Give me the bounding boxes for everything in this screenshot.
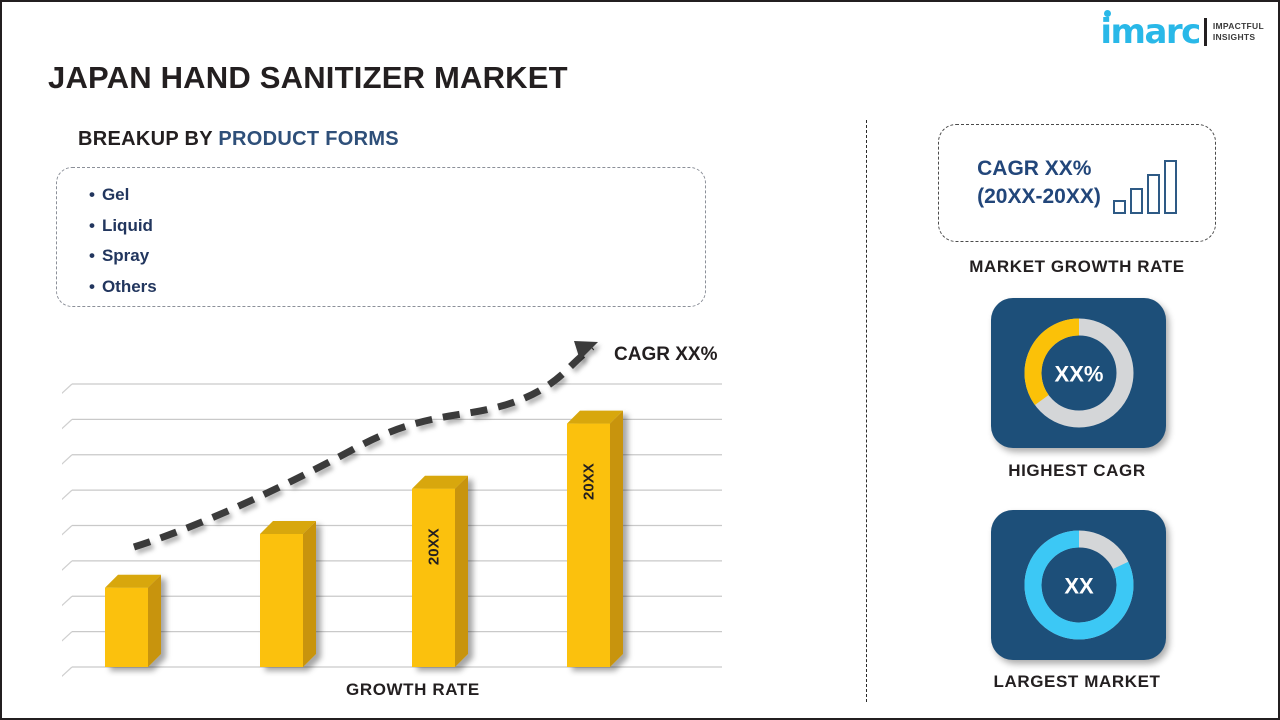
gridline-depth bbox=[62, 490, 72, 512]
largest-market-label: LARGEST MARKET bbox=[917, 672, 1237, 692]
list-item: •Liquid bbox=[77, 211, 705, 242]
highest-cagr-donut: XX% bbox=[1018, 312, 1140, 434]
bar-side-face bbox=[455, 476, 468, 667]
subtitle-prefix: BREAKUP BY bbox=[78, 128, 213, 150]
donut-value: XX bbox=[1064, 574, 1094, 599]
chart-x-axis-label: GROWTH RATE bbox=[346, 680, 480, 700]
list-item-label: Gel bbox=[102, 185, 129, 204]
chart-bars: 20XX20XX bbox=[105, 411, 623, 667]
highest-cagr-card: XX% bbox=[991, 298, 1166, 448]
gridline-depth bbox=[62, 561, 72, 583]
infographic-slide: imarc IMPACTFUL INSIGHTS JAPAN HAND SANI… bbox=[0, 0, 1280, 720]
highest-cagr-label: HIGHEST CAGR bbox=[917, 461, 1237, 481]
bar-label: 20XX bbox=[581, 463, 598, 500]
market-growth-line2: (20XX-20XX) bbox=[977, 183, 1101, 211]
gridline-depth bbox=[62, 667, 72, 677]
gridline-depth bbox=[62, 596, 72, 618]
largest-market-donut: XX bbox=[1018, 524, 1140, 646]
chart-bar bbox=[260, 521, 316, 667]
market-growth-rate-label: MARKET GROWTH RATE bbox=[917, 257, 1237, 277]
bar-front-face bbox=[260, 534, 303, 667]
bullet-icon: • bbox=[89, 185, 95, 204]
bar-chart-icon-bar bbox=[1164, 160, 1177, 214]
subtitle-highlight: PRODUCT FORMS bbox=[218, 128, 399, 150]
market-growth-text: CAGR XX% (20XX-20XX) bbox=[977, 155, 1101, 211]
chart-canvas: 20XX20XX bbox=[62, 332, 762, 677]
gridline-depth bbox=[62, 632, 72, 654]
list-item-label: Liquid bbox=[102, 216, 153, 235]
bar-chart-icon bbox=[1113, 152, 1177, 214]
imarc-logo: imarc IMPACTFUL INSIGHTS bbox=[1100, 12, 1264, 52]
list-item-label: Others bbox=[102, 277, 157, 296]
bar-chart-icon-bar bbox=[1130, 188, 1143, 214]
logo-tagline-line2: INSIGHTS bbox=[1213, 32, 1264, 43]
list-item-label: Spray bbox=[102, 246, 149, 265]
chart-bar bbox=[105, 575, 161, 667]
chart-cagr-label: CAGR XX% bbox=[614, 344, 717, 366]
logo-wordmark-text: imarc bbox=[1100, 12, 1199, 52]
product-forms-list: •Gel •Liquid •Spray •Others bbox=[56, 167, 706, 307]
growth-rate-chart: 20XX20XX CAGR XX% GROWTH RATE bbox=[62, 332, 762, 720]
page-subtitle: BREAKUP BY PRODUCT FORMS bbox=[78, 128, 399, 151]
bullet-icon: • bbox=[89, 277, 95, 296]
bar-front-face bbox=[567, 424, 610, 667]
bullet-icon: • bbox=[89, 216, 95, 235]
bar-front-face bbox=[105, 588, 148, 667]
logo-tagline-line1: IMPACTFUL bbox=[1213, 21, 1264, 32]
donut-value: XX% bbox=[1054, 362, 1103, 387]
logo-tagline: IMPACTFUL INSIGHTS bbox=[1213, 21, 1264, 43]
list-item: •Others bbox=[77, 272, 705, 303]
bar-side-face bbox=[148, 575, 161, 667]
gridline-depth bbox=[62, 384, 72, 406]
logo-divider bbox=[1204, 18, 1207, 46]
bar-side-face bbox=[303, 521, 316, 667]
chart-bar bbox=[412, 476, 468, 667]
list-item: •Gel bbox=[77, 180, 705, 211]
gridline-depth bbox=[62, 455, 72, 477]
bar-label: 20XX bbox=[426, 528, 443, 565]
chart-bar bbox=[567, 411, 623, 667]
bullet-icon: • bbox=[89, 246, 95, 265]
market-growth-card: CAGR XX% (20XX-20XX) bbox=[938, 124, 1216, 242]
bar-side-face bbox=[610, 411, 623, 667]
gridline-depth bbox=[62, 526, 72, 548]
logo-wordmark: imarc bbox=[1100, 15, 1199, 49]
bar-front-face bbox=[412, 489, 455, 667]
page-title: JAPAN HAND SANITIZER MARKET bbox=[48, 60, 568, 96]
gridline-depth bbox=[62, 419, 72, 441]
bar-chart-icon-bar bbox=[1113, 200, 1126, 214]
largest-market-card: XX bbox=[991, 510, 1166, 660]
list-item: •Spray bbox=[77, 241, 705, 272]
panel-divider bbox=[866, 120, 867, 702]
trend-line bbox=[134, 347, 592, 547]
market-growth-line1: CAGR XX% bbox=[977, 155, 1101, 183]
bar-chart-icon-bar bbox=[1147, 174, 1160, 214]
